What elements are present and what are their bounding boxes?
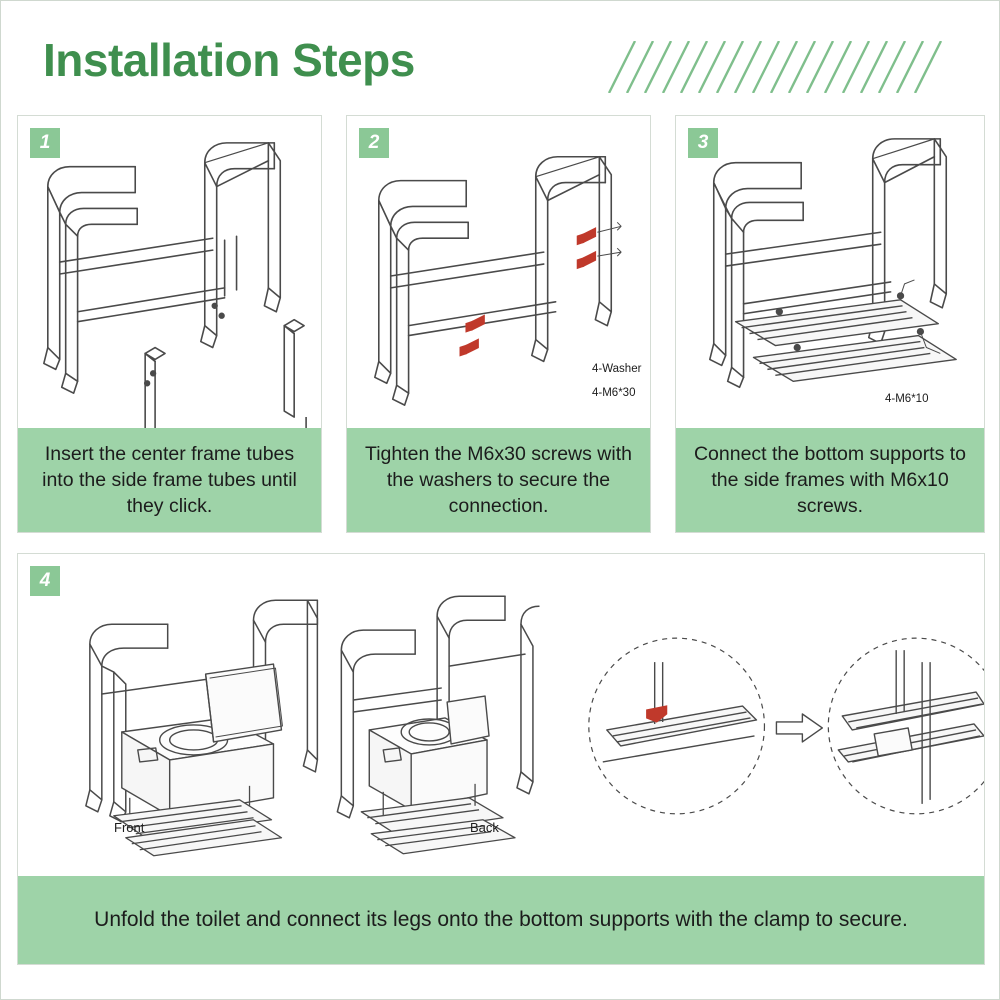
step-2-caption: Tighten the M6x30 screws with the washer…	[347, 428, 650, 532]
step-card-3: 3 4-M6*10 Connect the bottom supports to…	[675, 115, 985, 533]
callout-screw-m6x30: 4-M6*30	[592, 387, 635, 399]
step-4-badge: 4	[30, 566, 60, 596]
label-front: Front	[114, 820, 144, 835]
step-2-badge: 2	[359, 128, 389, 158]
page-title: Installation Steps	[43, 33, 415, 87]
step-card-2: 2 4-Washer 4-M6*30 Tighten the M6x30 scr…	[346, 115, 651, 533]
callout-screw-m6x10: 4-M6*10	[885, 393, 928, 405]
step-card-1: 1 Insert the center frame tubes into the…	[17, 115, 322, 533]
installation-steps-page: Installation Steps	[0, 0, 1000, 1000]
step-3-caption: Connect the bottom supports to the side …	[676, 428, 984, 532]
step-1-illustration	[18, 116, 321, 430]
page-header: Installation Steps	[1, 19, 999, 97]
step-2-illustration	[347, 116, 650, 430]
step-card-4: 4 Front Back Unfold the toilet and conne…	[17, 553, 985, 965]
step-4-illustration	[18, 554, 984, 878]
callout-washer: 4-Washer	[592, 363, 641, 375]
step-1-caption: Insert the center frame tubes into the s…	[18, 428, 321, 532]
hatch-decoration	[601, 41, 949, 93]
step-3-illustration	[676, 116, 984, 430]
step-3-badge: 3	[688, 128, 718, 158]
step-1-badge: 1	[30, 128, 60, 158]
label-back: Back	[470, 820, 499, 835]
step-4-caption: Unfold the toilet and connect its legs o…	[18, 876, 984, 964]
